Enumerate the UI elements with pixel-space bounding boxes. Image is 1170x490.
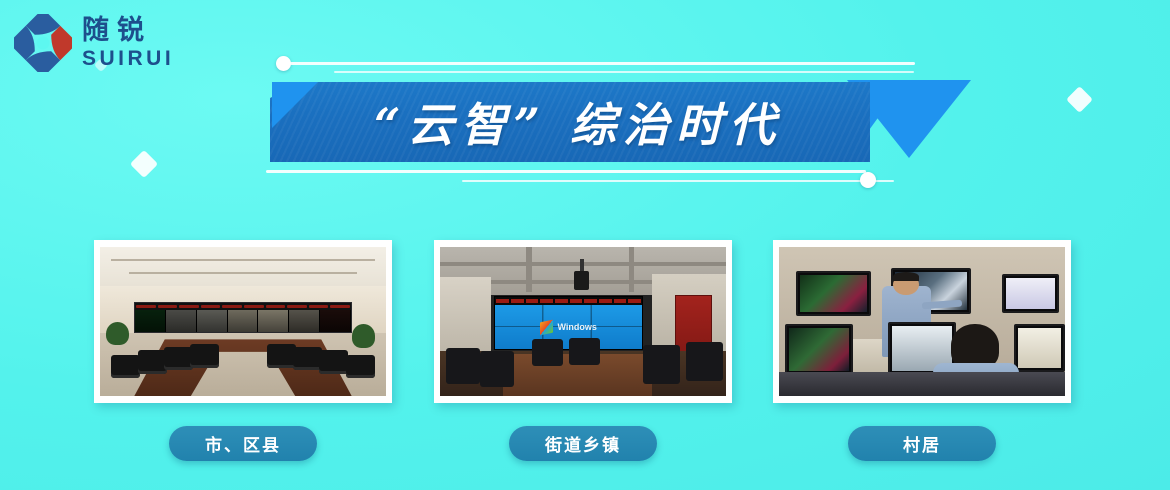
brand-logo: 随锐 SUIRUI [14,14,174,72]
decor-line-top-1 [290,62,915,65]
photo-village-monitoring-station [779,247,1065,396]
diamond-right-icon [1066,86,1093,113]
suirui-pinwheel-logo-icon [14,14,72,72]
diamond-left-icon [130,150,158,178]
card-label-street-township[interactable]: 街道乡镇 [509,426,657,461]
photo-frame [773,240,1071,403]
slide-canvas: 随锐 SUIRUI “云智” 综治时代 [0,0,1170,490]
card-label-village[interactable]: 村居 [848,426,996,461]
photo-frame [94,240,392,403]
photo-frame: Windows [434,240,732,403]
page-title: “云智” 综治时代 [270,82,870,162]
brand-name-cn: 随锐 [82,17,174,44]
decor-dot-top-icon [276,56,291,71]
card-village[interactable]: 村居 [772,240,1072,461]
card-city-district[interactable]: 市、区县 [93,240,393,461]
brand-name-en: SUIRUI [82,48,174,69]
decor-line-bottom-2 [462,180,894,182]
card-row: 市、区县 [0,240,1170,490]
card-street-township[interactable]: Windows 街道乡镇 [433,240,733,461]
photo-township-meeting-room: Windows [440,247,726,396]
decor-line-top-2 [334,71,914,73]
card-label-city-district[interactable]: 市、区县 [169,426,317,461]
title-banner: “云智” 综治时代 [262,52,942,202]
decor-line-bottom-1 [266,170,866,173]
decor-dot-bottom-icon [860,172,876,188]
photo-command-center [100,247,386,396]
